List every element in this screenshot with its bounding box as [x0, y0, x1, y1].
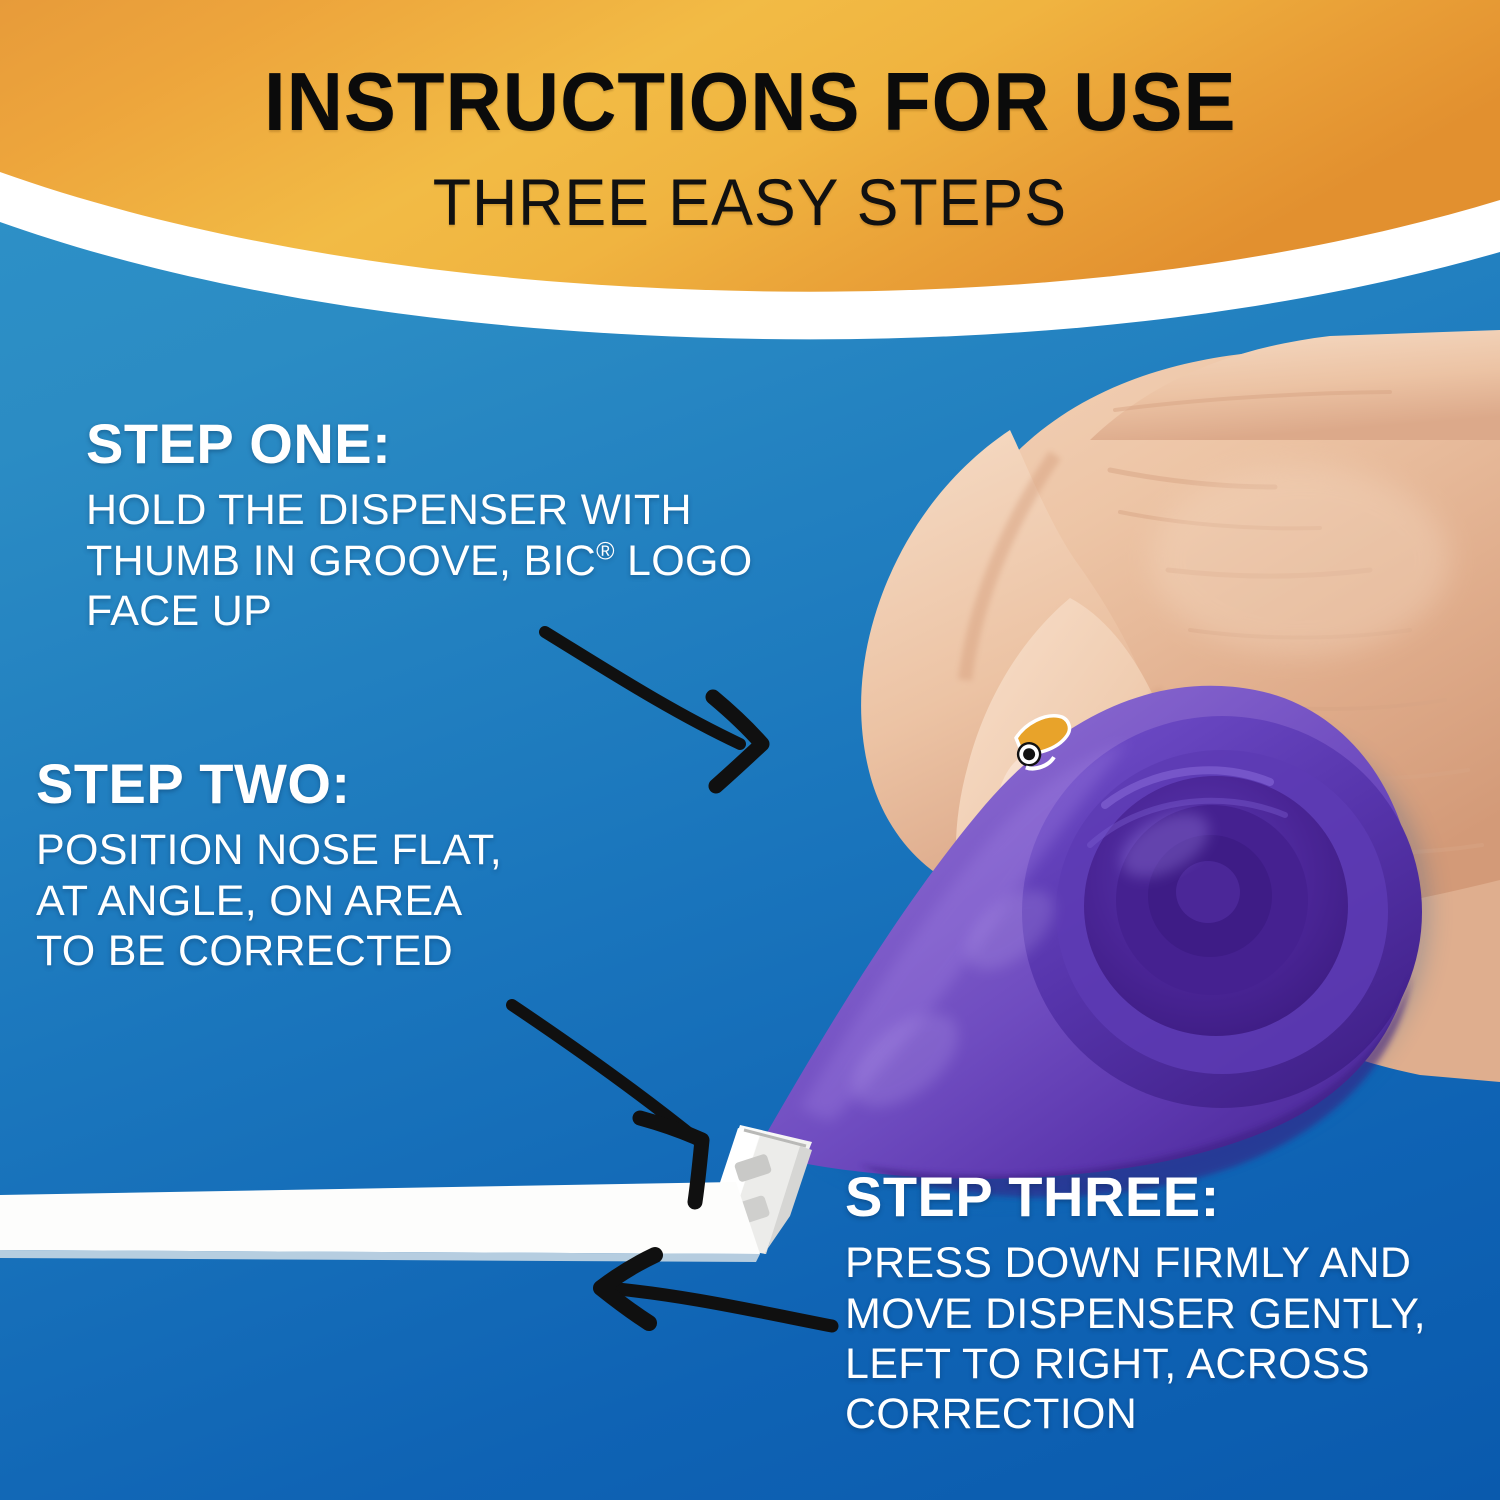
step-three-body: PRESS DOWN FIRMLY AND MOVE DISPENSER GEN…: [845, 1238, 1426, 1439]
step-two-body: POSITION NOSE FLAT, AT ANGLE, ON AREA TO…: [36, 825, 502, 976]
step-three-block: STEP THREE: PRESS DOWN FIRMLY AND MOVE D…: [845, 1168, 1426, 1439]
step-three-line-2: MOVE DISPENSER GENTLY,: [845, 1289, 1426, 1339]
step-three-title: STEP THREE:: [845, 1168, 1426, 1226]
step-two-line-2: AT ANGLE, ON AREA: [36, 876, 502, 926]
dispenser-nose: [700, 1125, 812, 1254]
step-three-line-3: LEFT TO RIGHT, ACROSS: [845, 1339, 1426, 1389]
step-two-block: STEP TWO: POSITION NOSE FLAT, AT ANGLE, …: [36, 755, 502, 976]
registered-mark-icon: ®: [596, 537, 615, 565]
header-banner: [0, 0, 1500, 400]
step-one-line-2: THUMB IN GROOVE, BIC® LOGO: [86, 536, 753, 586]
step-one-line-3: FACE UP: [86, 586, 753, 636]
step-one-body: HOLD THE DISPENSER WITH THUMB IN GROOVE,…: [86, 485, 753, 636]
step-one-title: STEP ONE:: [86, 415, 753, 473]
step-two-line-3: TO BE CORRECTED: [36, 926, 502, 976]
instructions-poster: INSTRUCTIONS FOR USE THREE EASY STEPS: [0, 0, 1500, 1500]
step-two-title: STEP TWO:: [36, 755, 502, 813]
step-one-block: STEP ONE: HOLD THE DISPENSER WITH THUMB …: [86, 415, 753, 636]
step-two-line-1: POSITION NOSE FLAT,: [36, 825, 502, 875]
step-three-line-1: PRESS DOWN FIRMLY AND: [845, 1238, 1426, 1288]
step-three-line-4: CORRECTION: [845, 1389, 1426, 1439]
step-one-line-1: HOLD THE DISPENSER WITH: [86, 485, 753, 535]
